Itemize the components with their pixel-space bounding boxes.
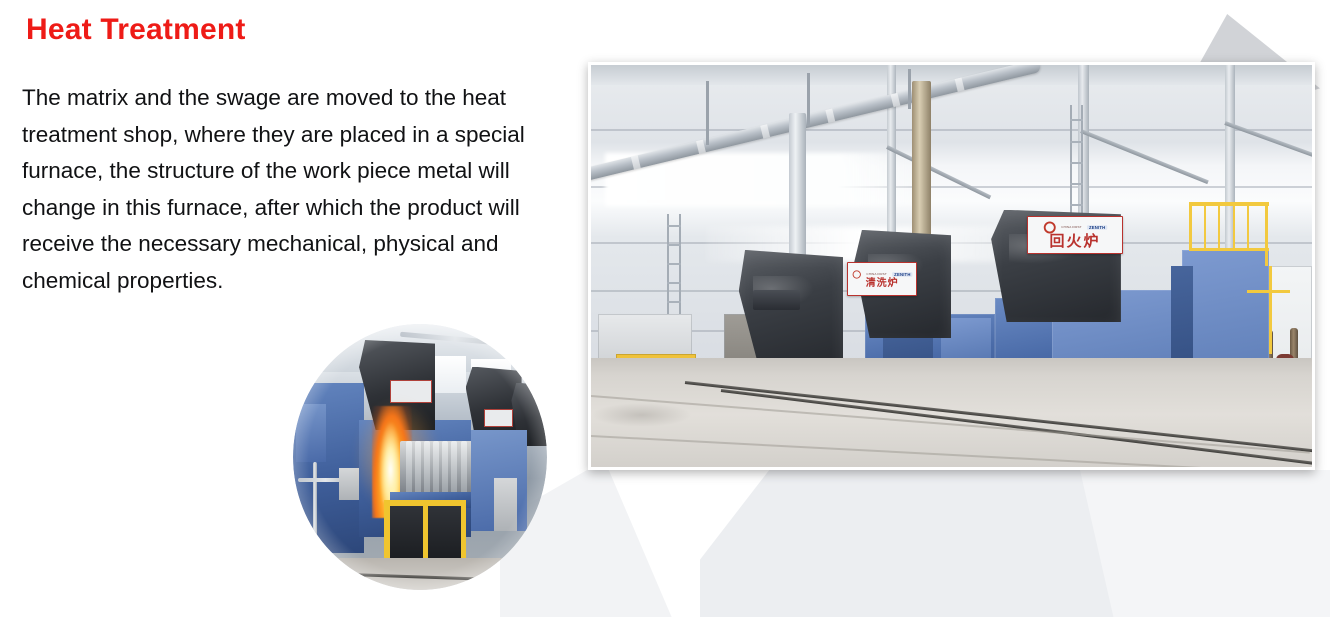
main-photo: CHINA FIRST ZENITH 回火炉 CHINA FIRST ZENIT… xyxy=(588,62,1315,470)
brand-circle-icon-2 xyxy=(852,270,860,278)
sign-brand-row-2: CHINA FIRST ZENITH xyxy=(852,270,912,278)
brand-badge: ZENITH xyxy=(1087,225,1107,230)
furnace-sign-washing: CHINA FIRST ZENITH 清洗炉 xyxy=(847,262,917,296)
body-paragraph: The matrix and the swage are moved to th… xyxy=(22,80,556,299)
workshop-scene: CHINA FIRST ZENITH 回火炉 CHINA FIRST ZENIT… xyxy=(591,65,1312,467)
inset-machine-left-panel xyxy=(296,404,326,463)
inset-sign-right xyxy=(484,409,514,427)
page-title: Heat Treatment xyxy=(26,13,246,47)
inset-workpiece-load xyxy=(400,441,476,494)
floor-stain xyxy=(591,403,692,427)
hood-window-1 xyxy=(753,290,800,310)
inset-cabinet-panel-right xyxy=(428,506,461,562)
brand-badge-2: ZENITH xyxy=(892,272,912,277)
inset-flame-core xyxy=(379,422,402,502)
inset-photo-circular xyxy=(293,324,547,590)
sign-chinese-text: 回火炉 xyxy=(1050,234,1101,249)
furnace-sign-tempering: CHINA FIRST ZENITH 回火炉 xyxy=(1027,216,1123,254)
brand-circle-icon xyxy=(1043,221,1055,233)
brand-mark-text: CHINA FIRST xyxy=(1061,226,1081,230)
brand-mark-text-2: CHINA FIRST xyxy=(866,272,886,276)
inset-cabinet-panel-left xyxy=(390,506,423,562)
safety-railing-top xyxy=(1189,202,1268,206)
decorative-polygon-right xyxy=(1080,470,1330,617)
furnace-flame-scene xyxy=(293,324,547,590)
sign-brand-row: CHINA FIRST ZENITH xyxy=(1043,221,1106,233)
inset-pipe-vert xyxy=(313,462,317,542)
safety-ladder-right xyxy=(1269,266,1272,354)
inset-control-box-right xyxy=(494,478,517,531)
sign-chinese-text-2: 清洗炉 xyxy=(866,279,899,289)
